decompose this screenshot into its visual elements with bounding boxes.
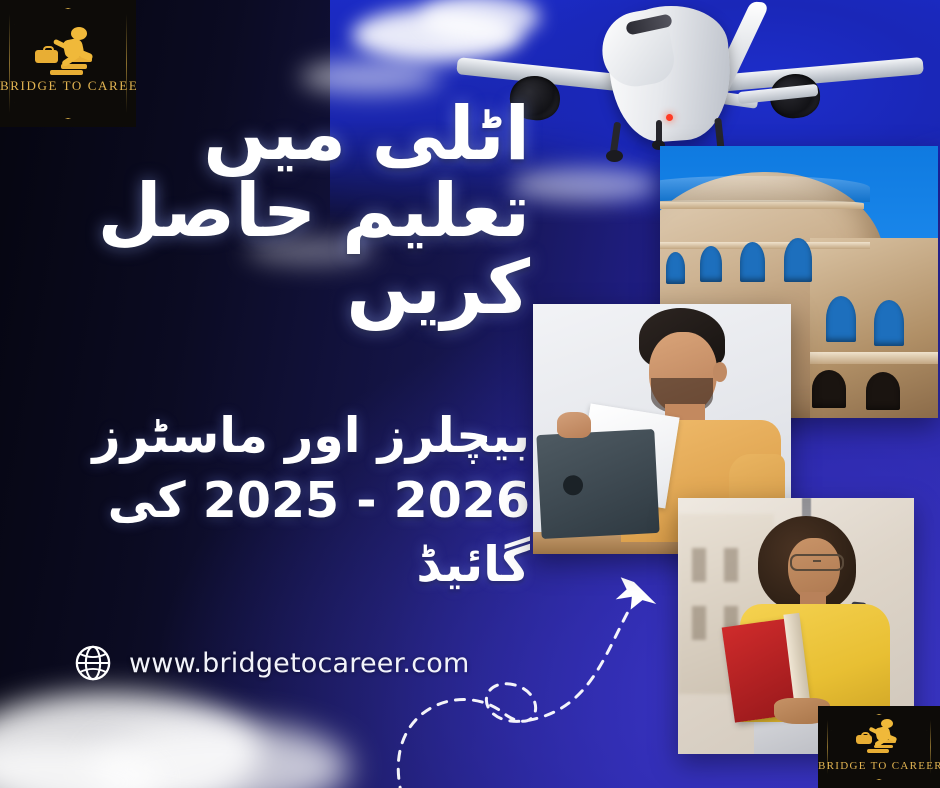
poster-canvas: اٹلی میں تعلیم حاصل کریں بیچلرز اور ماسٹ… xyxy=(0,0,940,788)
website-url[interactable]: www.bridgetocareer.com xyxy=(129,648,469,679)
colosseum-cornice xyxy=(810,352,938,364)
student-ear xyxy=(713,362,727,382)
globe-icon xyxy=(74,644,112,682)
colosseum-arch xyxy=(866,372,900,410)
brand-logo[interactable]: BRIDGE TO CAREER xyxy=(0,0,136,127)
logo-chevron-top xyxy=(14,8,122,25)
brand-name: BRIDGE TO CAREER xyxy=(0,78,136,94)
airplane-wheel xyxy=(606,150,623,162)
climbing-person-icon xyxy=(31,26,105,80)
logo-side-rule xyxy=(126,14,127,113)
brand-name: BRIDGE TO CAREER xyxy=(818,760,940,772)
colosseum-arch xyxy=(784,238,812,282)
colosseum-arch xyxy=(826,296,856,342)
colosseum-arch xyxy=(740,242,765,282)
website-row[interactable]: www.bridgetocareer.com xyxy=(74,644,469,682)
window xyxy=(724,548,738,582)
logo-chevron-bottom xyxy=(14,102,122,119)
colosseum-arch xyxy=(666,252,685,284)
brand-logo-corner[interactable]: BRIDGE TO CAREER xyxy=(818,706,940,788)
eyeglasses xyxy=(790,554,844,571)
cloud xyxy=(300,60,440,94)
subtitle-line-1: بیچلرز اور ماسٹرز xyxy=(92,407,530,464)
subtitle-line-2: 2026 - 2025 کی گائیڈ xyxy=(4,469,530,598)
climbing-person-icon xyxy=(853,718,905,756)
airplane-beacon-light xyxy=(666,114,673,121)
page-title: اٹلی میں تعلیم حاصل کریں xyxy=(12,96,530,327)
dashed-flight-path xyxy=(398,608,630,788)
laptop xyxy=(536,429,659,539)
logo-side-rule xyxy=(9,14,10,113)
colosseum-arch xyxy=(812,370,846,408)
colosseum-arch xyxy=(700,246,722,282)
colosseum-band xyxy=(660,176,870,202)
colosseum-arch xyxy=(874,300,904,346)
student-hand xyxy=(557,412,591,438)
window xyxy=(692,606,706,640)
airplane-icon xyxy=(609,575,660,619)
subtitle: بیچلرز اور ماسٹرز 2026 - 2025 کی گائیڈ xyxy=(4,404,530,598)
colosseum-cornice xyxy=(660,242,870,249)
window xyxy=(692,548,706,582)
